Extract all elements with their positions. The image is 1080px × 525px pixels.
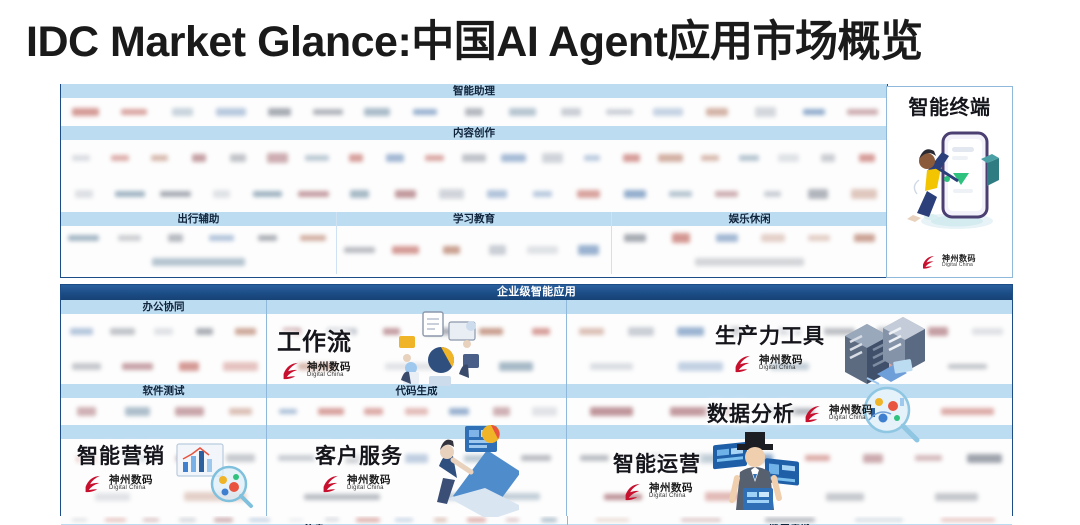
vendor-logo <box>533 191 552 197</box>
ent-footer-logos-0 <box>61 516 568 524</box>
vendor-logo <box>941 408 993 415</box>
ent-footer-logos-1 <box>568 516 1012 524</box>
vendor-logo <box>972 328 1003 336</box>
consumer-section: 智能助理 内容创作 出行辅助 学习教育 娱乐休闲 <box>60 84 888 278</box>
consumer-row-label-0: 智能助理 <box>61 84 887 98</box>
vendor-logo <box>184 492 246 501</box>
consumer-col-logos-1 <box>337 226 613 274</box>
vendor-logo <box>532 407 557 415</box>
vendor-logo <box>439 189 464 198</box>
vendor-logo <box>493 407 510 416</box>
vendor-logo <box>778 328 801 336</box>
phone-ar-person-illustration <box>895 117 1007 235</box>
vendor-logo <box>821 154 836 162</box>
vendor-logo <box>808 189 827 198</box>
vendor-logo <box>778 154 799 161</box>
vendor-logo <box>268 108 291 116</box>
vendor-logo <box>532 328 550 334</box>
vendor-logo <box>509 108 536 116</box>
vendor-logo <box>386 154 404 163</box>
vendor-logo <box>425 155 444 161</box>
vendor-logo <box>479 328 503 335</box>
vendor-logo <box>304 494 380 500</box>
vendor-logo <box>584 155 601 162</box>
vendor-logo <box>606 109 633 116</box>
vendor-logo <box>805 455 830 461</box>
vendor-logo <box>68 235 99 241</box>
vendor-logo <box>405 454 428 463</box>
vendor-logo <box>487 190 507 197</box>
vendor-logo <box>489 245 506 254</box>
vendor-logo <box>349 154 364 163</box>
ent-spacer-4 <box>567 384 1012 398</box>
vendor-logo <box>289 519 304 522</box>
enterprise-section-header: 企业级智能应用 <box>61 285 1012 300</box>
vendor-logo <box>77 455 96 462</box>
vendor-logo <box>364 408 383 415</box>
ent-logos-0-1 <box>61 398 266 425</box>
enterprise-column-office: 办公协同 软件测试 智能营销 <box>61 300 267 517</box>
vendor-logo <box>689 454 723 463</box>
vendor-logo <box>501 154 527 161</box>
vendor-logo <box>95 493 130 501</box>
vendor-logo <box>823 328 855 334</box>
vendor-logo <box>449 408 469 414</box>
vendor-logo <box>701 155 719 161</box>
vendor-logo <box>279 409 297 415</box>
ent-label-0-1: 软件测试 <box>61 384 266 398</box>
vendor-logo <box>196 328 212 335</box>
vendor-logo <box>658 154 683 162</box>
vendor-logo <box>761 234 785 242</box>
vendor-logo <box>854 234 875 241</box>
vendor-logo <box>506 519 519 521</box>
vendor-logo <box>298 191 329 198</box>
vendor-logo <box>590 407 632 416</box>
vendor-logo <box>249 519 270 522</box>
vendor-logo <box>75 190 93 197</box>
vendor-logo <box>521 455 551 461</box>
consumer-col-label-0: 出行辅助 <box>61 212 336 226</box>
vendor-logo <box>464 455 489 462</box>
ent-logos-1-0 <box>267 314 566 384</box>
vendor-logo <box>105 519 126 522</box>
vendor-logo <box>755 107 775 116</box>
vendor-logo <box>213 190 230 198</box>
vendor-logo <box>856 408 901 415</box>
consumer-row-label-1: 内容创作 <box>61 126 887 140</box>
vendor-logo <box>229 408 252 415</box>
page-title: IDC Market Glance:中国AI Agent应用市场概览 <box>26 16 1066 68</box>
vendor-logo <box>465 108 483 116</box>
vendor-logo <box>111 155 129 161</box>
ent-label-0-0: 办公协同 <box>61 300 266 314</box>
vendor-logo <box>628 327 654 335</box>
vendor-logo <box>160 191 191 197</box>
vendor-logo <box>70 328 94 335</box>
enterprise-footer-logo-strip <box>61 516 1012 524</box>
vendor-logo <box>192 154 206 161</box>
ent-label-1-1: 代码生成 <box>267 384 566 398</box>
vendor-logo <box>179 518 196 522</box>
vendor-logo <box>115 191 145 197</box>
vendor-logo <box>863 454 882 463</box>
vendor-logo <box>462 154 485 162</box>
vendor-logo <box>669 191 693 198</box>
vendor-logo <box>350 190 369 198</box>
vendor-logo <box>859 154 875 162</box>
ent-logos-1-2 <box>267 439 566 516</box>
consumer-logo-row-0 <box>61 98 887 126</box>
vendor-logo <box>172 108 193 117</box>
promo-title-smart-terminal: 智能终端 <box>887 91 1012 120</box>
vendor-logo <box>325 518 339 521</box>
vendor-logo <box>739 155 759 161</box>
vendor-logo <box>716 234 739 242</box>
vendor-logo <box>808 235 830 241</box>
vendor-logo <box>877 327 899 335</box>
vendor-logo <box>770 363 809 370</box>
ent-spacer-0 <box>61 425 266 439</box>
vendor-logo <box>214 518 233 521</box>
digital-china-swoosh-icon <box>921 254 938 269</box>
vendor-logo <box>267 153 288 163</box>
vendor-logo <box>948 364 988 370</box>
vendor-logo <box>826 493 865 501</box>
vendor-logo <box>72 108 99 116</box>
vendor-logo <box>77 407 96 415</box>
vendor-logo <box>915 455 942 461</box>
vendor-logo <box>765 518 815 521</box>
vendor-logo <box>527 246 558 254</box>
vendor-logo <box>928 327 948 336</box>
vendor-logo <box>443 493 540 500</box>
vendor-logo <box>765 408 813 414</box>
vendor-logo <box>395 519 413 522</box>
vendor-logo <box>580 455 609 461</box>
vendor-logo <box>935 493 977 501</box>
vendor-logo <box>677 327 704 335</box>
enterprise-grid: 办公协同 软件测试 智能营销 <box>61 300 1012 517</box>
vendor-logo <box>298 363 337 370</box>
vendor-logo <box>123 455 153 461</box>
vendor-logo <box>715 191 738 197</box>
vendor-logo <box>235 328 255 335</box>
vendor-logo <box>226 454 255 463</box>
consumer-logo-row-1 <box>61 140 887 212</box>
vendor-logo <box>230 154 247 162</box>
vendor-logo <box>623 154 640 163</box>
vendor-logo <box>125 407 150 416</box>
vendor-logo <box>636 454 665 462</box>
vendor-logo <box>670 407 730 416</box>
enterprise-column-workflow: 代码生成 工作流 神州数码 Dig <box>267 300 567 517</box>
ent-spacer-1 <box>267 300 566 314</box>
ent-spacer-3 <box>567 300 1012 314</box>
vendor-logo <box>695 258 804 266</box>
vendor-logo <box>578 245 599 255</box>
brand-logo-smart-terminal: 神州数码 Digital China <box>921 254 976 269</box>
vendor-logo <box>851 189 878 198</box>
vendor-logo <box>392 246 419 254</box>
vendor-logo <box>542 153 563 162</box>
vendor-logo <box>223 362 257 371</box>
brand-name-en: Digital China <box>942 263 976 268</box>
vendor-logo <box>179 362 199 371</box>
vendor-logo <box>122 363 153 370</box>
vendor-logo <box>356 518 380 522</box>
vendor-logo <box>383 328 400 336</box>
consumer-col-logos-0 <box>61 226 337 274</box>
vendor-logo <box>121 109 147 115</box>
vendor-logo <box>72 519 87 521</box>
vendor-logo <box>653 108 683 116</box>
vendor-logo <box>152 258 246 267</box>
vendor-logo <box>967 454 1002 463</box>
vendor-logo <box>143 519 159 522</box>
vendor-logo <box>596 519 628 522</box>
vendor-logo <box>72 363 101 370</box>
vendor-logo <box>345 454 369 463</box>
vendor-logo <box>624 234 646 241</box>
ent-spacer-5 <box>567 425 1012 439</box>
vendor-logo <box>443 246 460 254</box>
vendor-logo <box>434 518 446 521</box>
vendor-logo <box>764 191 781 198</box>
vendor-logo <box>253 191 283 198</box>
vendor-logo <box>318 408 345 415</box>
enterprise-column-productivity: 生产力工具 神州数码 Digital China <box>567 300 1012 517</box>
vendor-logo <box>110 328 134 335</box>
vendor-logo <box>855 519 903 522</box>
vendor-logo <box>151 155 168 161</box>
vendor-logo <box>364 108 389 117</box>
ent-logos-0-0 <box>61 314 266 384</box>
vendor-logo <box>258 235 277 241</box>
vendor-logo <box>467 518 486 522</box>
ent-logos-2-2 <box>567 439 1012 516</box>
vendor-logo <box>413 109 437 115</box>
vendor-logo <box>395 190 416 199</box>
vendor-logo <box>283 328 300 336</box>
vendor-logo <box>305 155 329 161</box>
vendor-logo <box>278 455 317 461</box>
vendor-logo <box>327 328 357 334</box>
slide-canvas: IDC Market Glance:中国AI Agent应用市场概览 消费级智能… <box>0 0 1080 525</box>
vendor-logo <box>168 234 184 242</box>
vendor-logo <box>209 235 234 241</box>
vendor-logo <box>313 109 343 116</box>
ent-logos-2-0 <box>567 314 1012 384</box>
vendor-logo <box>681 519 721 522</box>
vendor-logo <box>604 494 642 500</box>
vendor-logo <box>344 247 375 254</box>
consumer-col-logos-2 <box>612 226 887 274</box>
vendor-logo <box>941 519 995 521</box>
vendor-logo <box>678 362 724 370</box>
vendor-logo <box>425 328 457 336</box>
vendor-logo <box>750 454 773 462</box>
vendor-logo <box>154 328 173 335</box>
enterprise-section: 企业级智能应用 办公协同 软件测试 智能营销 <box>60 284 1013 516</box>
vendor-logo <box>72 155 90 162</box>
vendor-logo <box>624 190 646 198</box>
ent-spacer-2 <box>267 425 566 439</box>
vendor-logo <box>561 108 581 117</box>
ent-logos-0-2 <box>61 439 266 516</box>
vendor-logo <box>579 328 604 335</box>
vendor-logo <box>541 518 556 521</box>
vendor-logo <box>216 108 247 115</box>
vendor-logo <box>118 235 141 241</box>
vendor-logo <box>706 108 728 117</box>
vendor-logo <box>577 190 600 198</box>
consumer-col-label-1: 学习教育 <box>337 212 612 226</box>
vendor-logo <box>847 109 878 115</box>
vendor-logo <box>590 363 633 370</box>
vendor-logo <box>405 408 429 414</box>
vendor-logo <box>175 407 204 416</box>
ent-logos-1-1 <box>267 398 566 425</box>
vendor-logo <box>176 455 202 462</box>
vendor-logo <box>300 235 326 241</box>
ent-logos-2-1 <box>567 398 1012 425</box>
vendor-logo <box>803 109 826 115</box>
promo-panel-smart-terminal: 智能终端 <box>886 86 1013 278</box>
vendor-logo <box>672 233 690 242</box>
vendor-logo <box>853 362 904 371</box>
vendor-logo <box>385 363 449 370</box>
consumer-col-label-2: 娱乐休闲 <box>612 212 887 226</box>
vendor-logo <box>705 492 763 501</box>
vendor-logo <box>728 327 751 336</box>
vendor-logo <box>499 362 533 370</box>
